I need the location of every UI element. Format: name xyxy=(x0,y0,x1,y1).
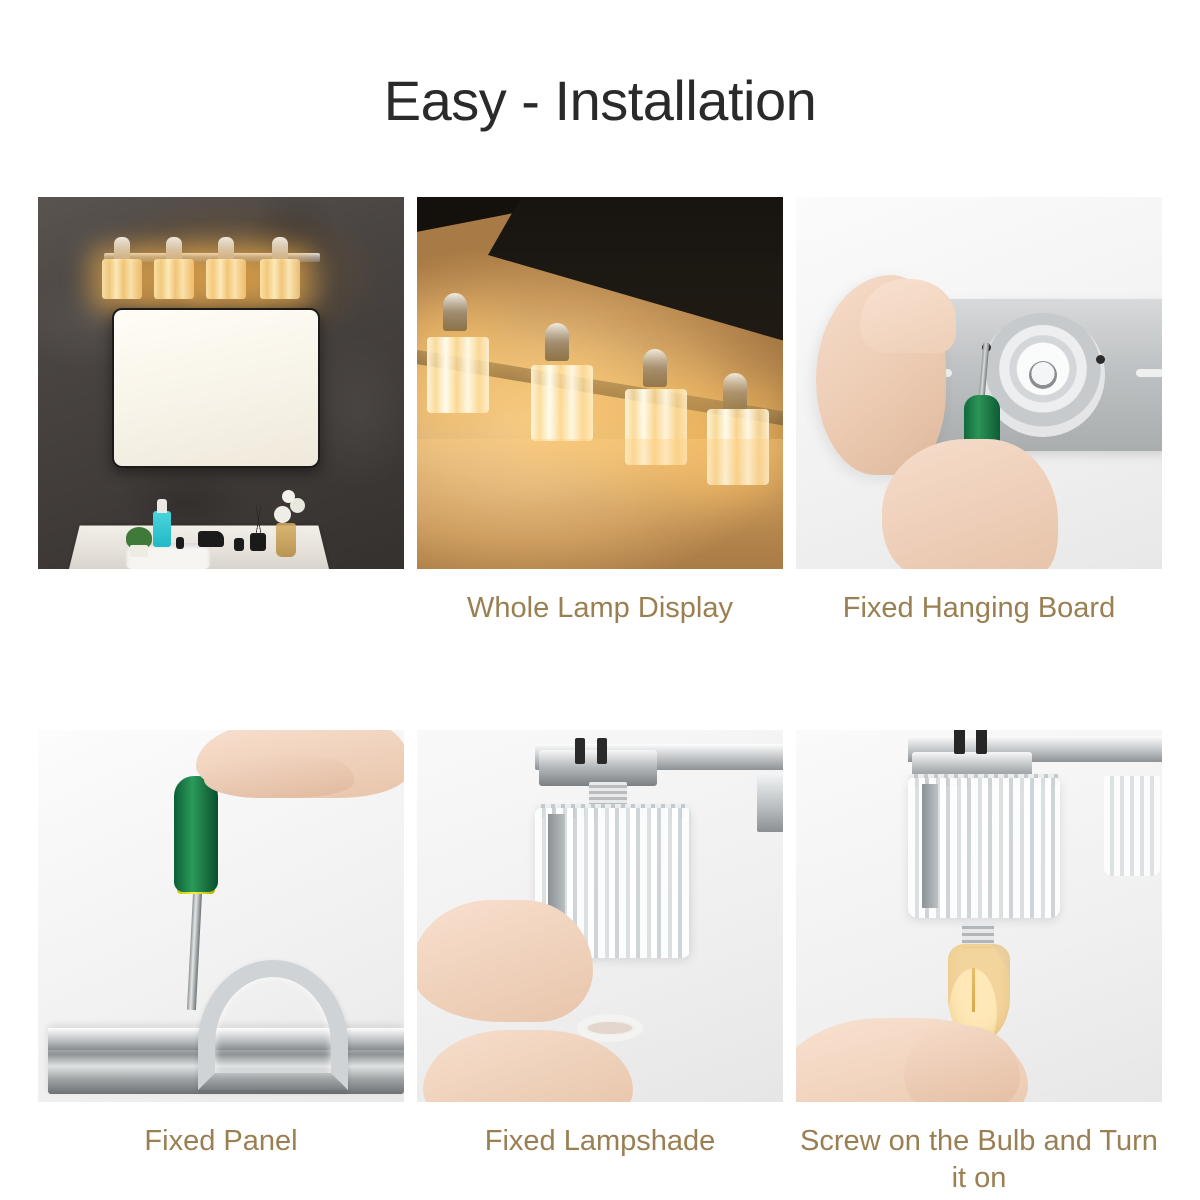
left-hand-fingers xyxy=(860,279,956,353)
step-card-6: Screw on the Bulb and Turn it on xyxy=(796,730,1162,1197)
step-caption-3: Fixed Hanging Board xyxy=(796,569,1162,627)
step-caption-4: Fixed Panel xyxy=(38,1102,404,1160)
dried-flower-3 xyxy=(282,490,295,503)
faucet-handle-right xyxy=(234,538,244,551)
hand-knuckles xyxy=(204,756,354,798)
dried-flower-1 xyxy=(274,506,291,523)
flower-vase xyxy=(276,523,296,557)
lamp-neck-3 xyxy=(643,349,667,387)
lit-crystal-shade-2 xyxy=(531,365,593,441)
crystal-shade-4 xyxy=(260,259,300,299)
adjacent-crystal-lampshade xyxy=(1104,776,1160,876)
warm-glow-reflection xyxy=(417,439,783,569)
socket-dark-detail-1 xyxy=(575,738,585,764)
faucet-handle-left xyxy=(176,537,184,549)
dark-upper-corner xyxy=(488,197,783,342)
photo-screw-on-the-bulb xyxy=(796,730,1162,1102)
photo-bathroom-vanity-lit-scene xyxy=(38,197,404,569)
lamp-neck-1 xyxy=(443,293,467,331)
photo-whole-lamp-display xyxy=(417,197,783,569)
disc-center-screw xyxy=(1029,361,1057,389)
plant-pot xyxy=(130,545,148,557)
steps-grid: Whole Lamp Display Fixed Hanging Board xyxy=(38,197,1162,1197)
step-caption-2: Whole Lamp Display xyxy=(417,569,783,627)
lampshade-reflection-stripe xyxy=(922,784,938,908)
step-card-3: Fixed Hanging Board xyxy=(796,197,1162,627)
lit-crystal-shade-1 xyxy=(427,337,489,413)
socket-dark-detail-1 xyxy=(954,730,965,754)
right-hand-gripping-screwdriver xyxy=(882,439,1058,569)
hand-holding-lampshade xyxy=(417,900,593,1022)
screw-head-upper-right xyxy=(1096,355,1105,364)
socket-threads xyxy=(589,782,627,806)
photo-fixed-panel xyxy=(38,730,404,1102)
lamp-neck-2 xyxy=(545,323,569,361)
wall-mirror xyxy=(112,308,320,468)
photo-fixed-lampshade xyxy=(417,730,783,1102)
lamp-arm-2 xyxy=(166,237,182,261)
page-title: Easy - Installation xyxy=(0,70,1200,132)
lamp-neck-4 xyxy=(723,373,747,411)
plate-slot-right xyxy=(1136,369,1162,377)
side-lamp-arm xyxy=(757,774,783,832)
step-card-5: Fixed Lampshade xyxy=(417,730,783,1197)
screwdriver-green-handle xyxy=(174,776,218,892)
step-card-4: Fixed Panel xyxy=(38,730,404,1197)
hand-fingers xyxy=(904,1026,1020,1102)
crystal-shade-2 xyxy=(154,259,194,299)
socket-dark-detail-2 xyxy=(976,730,987,754)
chrome-curved-arm xyxy=(198,960,348,1090)
faucet xyxy=(198,531,224,547)
reed-sticks xyxy=(252,505,266,535)
lamp-arm-1 xyxy=(114,237,130,261)
step-card-2: Whole Lamp Display xyxy=(417,197,783,627)
lamp-arm-4 xyxy=(272,237,288,261)
crystal-shade-1 xyxy=(102,259,142,299)
bulb-filament xyxy=(972,968,975,1012)
step-caption-5: Fixed Lampshade xyxy=(417,1102,783,1160)
socket-dark-detail-2 xyxy=(597,738,607,764)
lamp-arm-3 xyxy=(218,237,234,261)
step-caption-6: Screw on the Bulb and Turn it on xyxy=(796,1102,1162,1197)
screwdriver-shaft xyxy=(187,892,202,1010)
reed-diffuser xyxy=(250,533,266,551)
step-card-1 xyxy=(38,197,404,627)
installation-guide-page: Easy - Installation xyxy=(0,0,1200,1200)
soap-dispenser xyxy=(153,511,171,547)
crystal-shade-3 xyxy=(206,259,246,299)
photo-fixed-hanging-board xyxy=(796,197,1162,569)
